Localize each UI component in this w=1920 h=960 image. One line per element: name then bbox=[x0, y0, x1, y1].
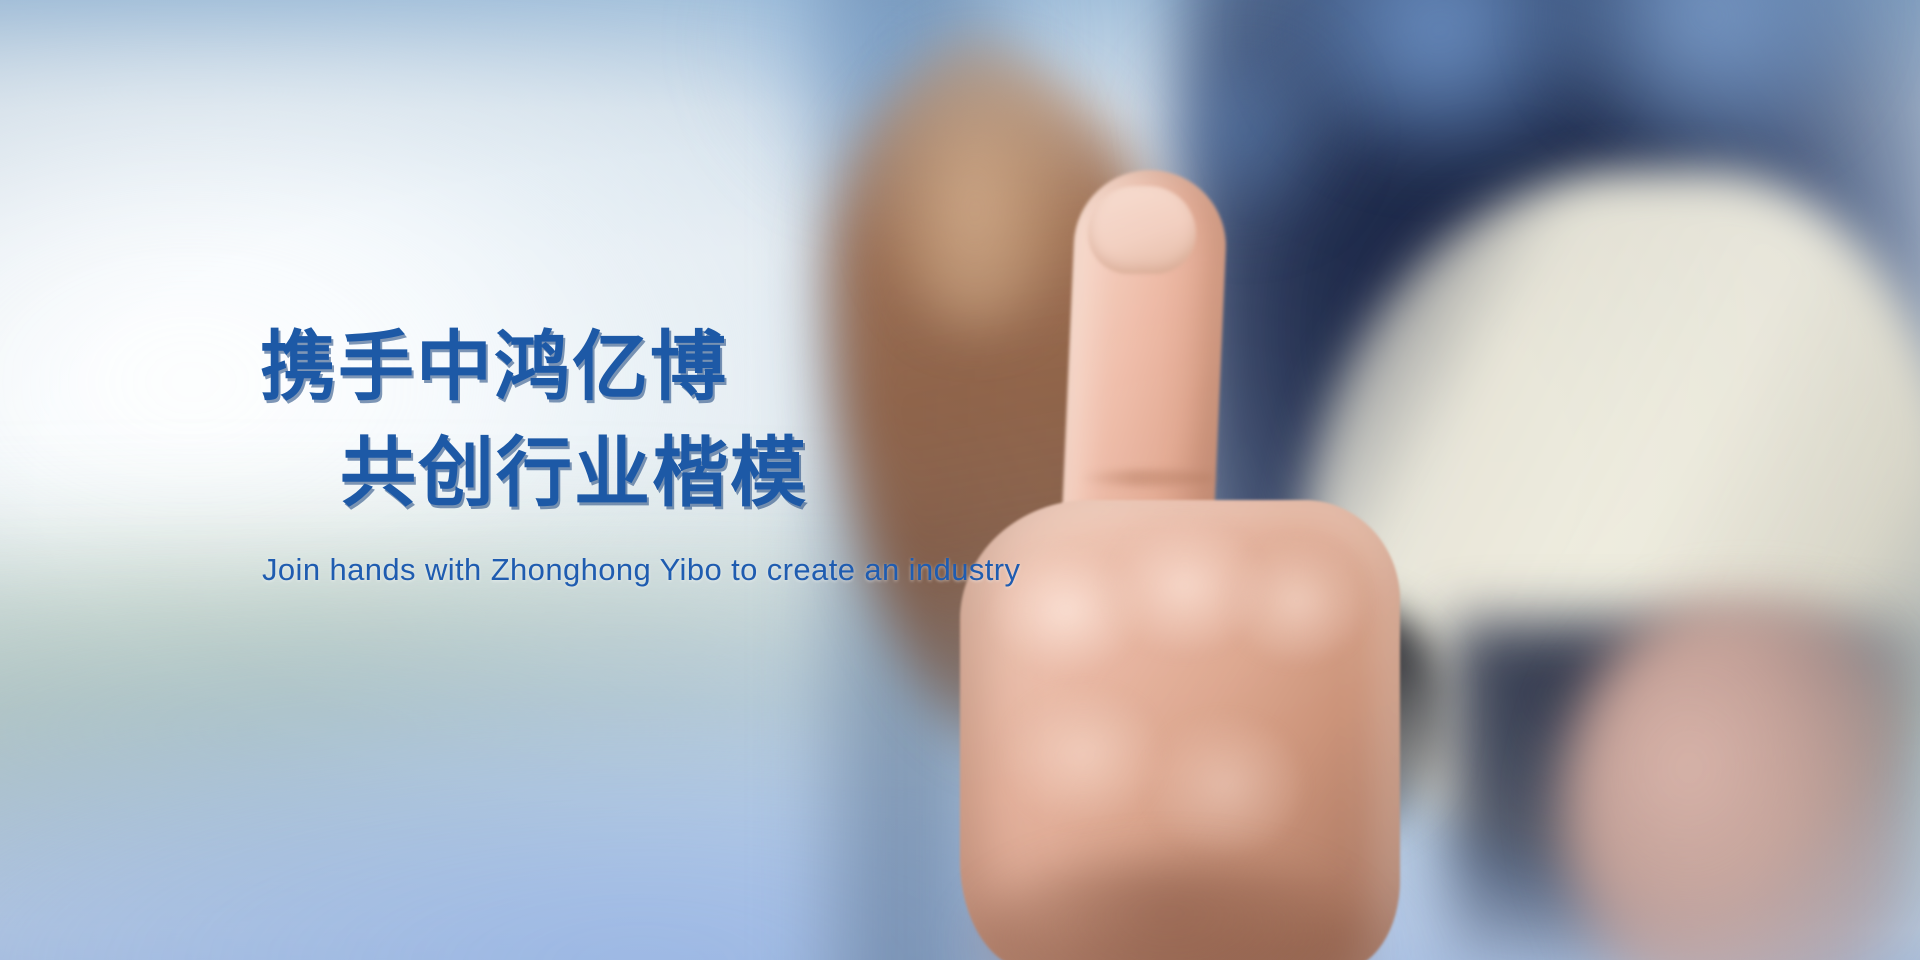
knuckle-4 bbox=[1008, 690, 1158, 820]
knuckle-3 bbox=[1232, 542, 1362, 660]
hero-banner: 携手中鸿亿博 共创行业楷模 Join hands with Zhonghong … bbox=[0, 0, 1920, 960]
headline-line-2: 共创行业楷模 bbox=[340, 436, 1000, 512]
banner-subheadline: Join hands with Zhonghong Yibo to create… bbox=[262, 552, 1000, 588]
thumbnail bbox=[1088, 186, 1196, 274]
thumbs-up-hand bbox=[960, 170, 1420, 960]
banner-copy: 携手中鸿亿博 共创行业楷模 Join hands with Zhonghong … bbox=[0, 0, 1000, 588]
thumb-crease bbox=[1080, 470, 1216, 486]
knuckle-5 bbox=[1150, 718, 1300, 852]
headline-line-1: 携手中鸿亿博 bbox=[260, 330, 1000, 406]
